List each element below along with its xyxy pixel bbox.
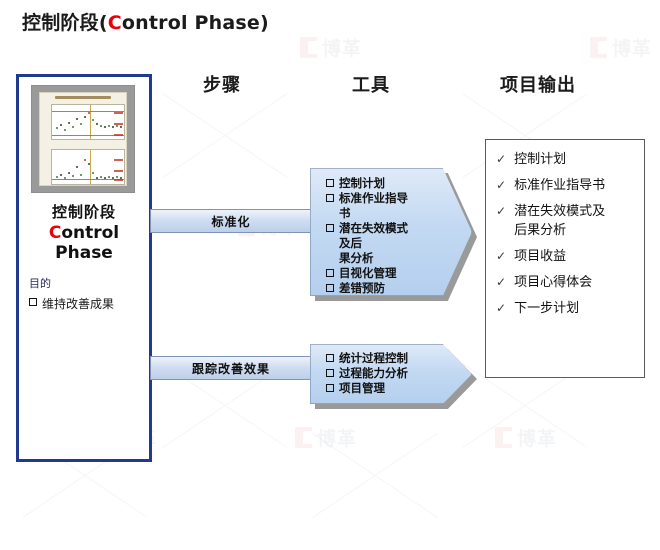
bullet-square-icon: [326, 354, 334, 362]
tools-list-item-label: 目视化管理: [339, 266, 397, 281]
phase-name-en-line2: Phase: [55, 243, 113, 263]
brand-logo-icon: [300, 37, 317, 58]
phase-name-en: ControlPhase: [19, 223, 149, 263]
watermark-x-decoration: [150, 330, 300, 480]
page-title-cn: 控制阶段: [22, 12, 99, 34]
watermark-x-decoration: [300, 400, 450, 550]
phase-name-cn: 控制阶段: [19, 201, 149, 222]
brand-watermark: 博革: [590, 34, 652, 61]
bullet-square-icon: [326, 369, 334, 377]
tools-chevron-standardize[interactable]: 控制计划 标准作业指导书 潜在失效模式及后 果分析 目视化管理 差错预防: [310, 168, 472, 296]
brand-logo-icon: [295, 427, 312, 448]
tools-list-item-label: 过程能力分析: [339, 366, 408, 381]
phase-name-en-rest: ontrol: [61, 223, 119, 243]
tools-list: 控制计划 标准作业指导书 潜在失效模式及后 果分析 目视化管理 差错预防: [326, 168, 417, 296]
control-chart-thumbnail[interactable]: [31, 85, 135, 193]
page-title-en: ontrol Phase: [122, 12, 260, 34]
check-icon: ✓: [496, 247, 506, 266]
output-list-item: ✓ 潜在失效模式及 后果分析: [496, 202, 636, 240]
brand-logo-icon: [495, 427, 512, 448]
page-title-initial: C: [108, 12, 122, 34]
output-list-item: ✓ 控制计划: [496, 150, 636, 169]
brand-watermark: 博革: [300, 34, 362, 61]
tools-list: 统计过程控制 过程能力分析 项目管理: [326, 344, 417, 396]
step-bar-track-results[interactable]: 跟踪改善效果: [150, 356, 312, 380]
brand-watermark: 博革: [495, 424, 557, 451]
control-chart-thumbnail-title: [55, 96, 111, 99]
tools-list-item: 统计过程控制: [326, 351, 417, 366]
brand-watermark: 博革: [295, 424, 357, 451]
output-list-item-label: 下一步计划: [514, 299, 579, 318]
output-list-item: ✓ 标准作业指导书: [496, 176, 636, 195]
control-chart-thumbnail-inner: [39, 92, 127, 186]
tools-list-item-label: 统计过程控制: [339, 351, 408, 366]
bullet-square-icon: [326, 179, 334, 187]
column-header-tools: 工具: [352, 71, 390, 97]
step-bar-label: 标准化: [211, 213, 250, 230]
step-bar-standardize[interactable]: 标准化: [150, 209, 312, 233]
bullet-square-icon: [29, 298, 37, 306]
mini-chart-moving-range: [51, 149, 125, 185]
output-list-item-label: 项目心得体会: [514, 273, 592, 292]
brand-watermark-text: 博革: [612, 34, 652, 61]
tools-list-item-label: 潜在失效模式及后 果分析: [339, 221, 417, 266]
purpose-label: 目的: [29, 275, 51, 291]
output-list-item-label: 控制计划: [514, 150, 566, 169]
tools-chevron-track-results[interactable]: 统计过程控制 过程能力分析 项目管理: [310, 344, 472, 404]
slide-canvas: 博革 博革 博革 博革 博革 博革 博革 控制阶段(Control Phase)…: [0, 0, 660, 495]
output-list-item-label: 项目收益: [514, 247, 566, 266]
check-icon: ✓: [496, 202, 506, 221]
tools-list-item-label: 标准作业指导书: [339, 191, 417, 221]
brand-logo-icon: [590, 37, 607, 58]
tools-list-item: 项目管理: [326, 381, 417, 396]
step-bar-label: 跟踪改善效果: [192, 360, 270, 377]
check-icon: ✓: [496, 176, 506, 195]
project-outputs-box: ✓ 控制计划 ✓ 标准作业指导书 ✓ 潜在失效模式及 后果分析 ✓ 项目收益 ✓…: [485, 139, 645, 378]
output-list-item: ✓ 项目收益: [496, 247, 636, 266]
page-title: 控制阶段(Control Phase): [22, 8, 269, 35]
bullet-square-icon: [326, 224, 334, 232]
output-list-item-label: 标准作业指导书: [514, 176, 605, 195]
brand-watermark-text: 博革: [517, 424, 557, 451]
check-icon: ✓: [496, 150, 506, 169]
phase-panel: 控制阶段 ControlPhase 目的 维持改善成果: [16, 74, 152, 462]
brand-watermark-text: 博革: [322, 34, 362, 61]
tools-list-item-label: 项目管理: [339, 381, 385, 396]
bullet-square-icon: [326, 384, 334, 392]
tools-list-item: 差错预防: [326, 281, 417, 296]
tools-list-item: 标准作业指导书: [326, 191, 417, 221]
tools-list-item-label: 控制计划: [339, 176, 385, 191]
phase-name-initial: C: [49, 223, 61, 243]
tools-list-item-label: 差错预防: [339, 281, 385, 296]
output-list-item: ✓ 下一步计划: [496, 299, 636, 318]
purpose-item-label: 维持改善成果: [42, 295, 114, 312]
check-icon: ✓: [496, 273, 506, 292]
column-header-outputs: 项目输出: [500, 71, 576, 97]
bullet-square-icon: [326, 194, 334, 202]
tools-list-item: 目视化管理: [326, 266, 417, 281]
page-title-paren-open: (: [99, 12, 108, 34]
tools-list-item: 潜在失效模式及后 果分析: [326, 221, 417, 266]
column-header-steps: 步骤: [203, 71, 241, 97]
brand-watermark-text: 博革: [317, 424, 357, 451]
check-icon: ✓: [496, 299, 506, 318]
output-list-item-label: 潜在失效模式及 后果分析: [514, 202, 605, 240]
bullet-square-icon: [326, 284, 334, 292]
bullet-square-icon: [326, 269, 334, 277]
output-list-item: ✓ 项目心得体会: [496, 273, 636, 292]
tools-list-item: 过程能力分析: [326, 366, 417, 381]
tools-list-item: 控制计划: [326, 176, 417, 191]
page-title-paren-close: ): [260, 12, 269, 34]
purpose-item: 维持改善成果: [29, 295, 114, 312]
mini-chart-individuals: [51, 104, 125, 140]
